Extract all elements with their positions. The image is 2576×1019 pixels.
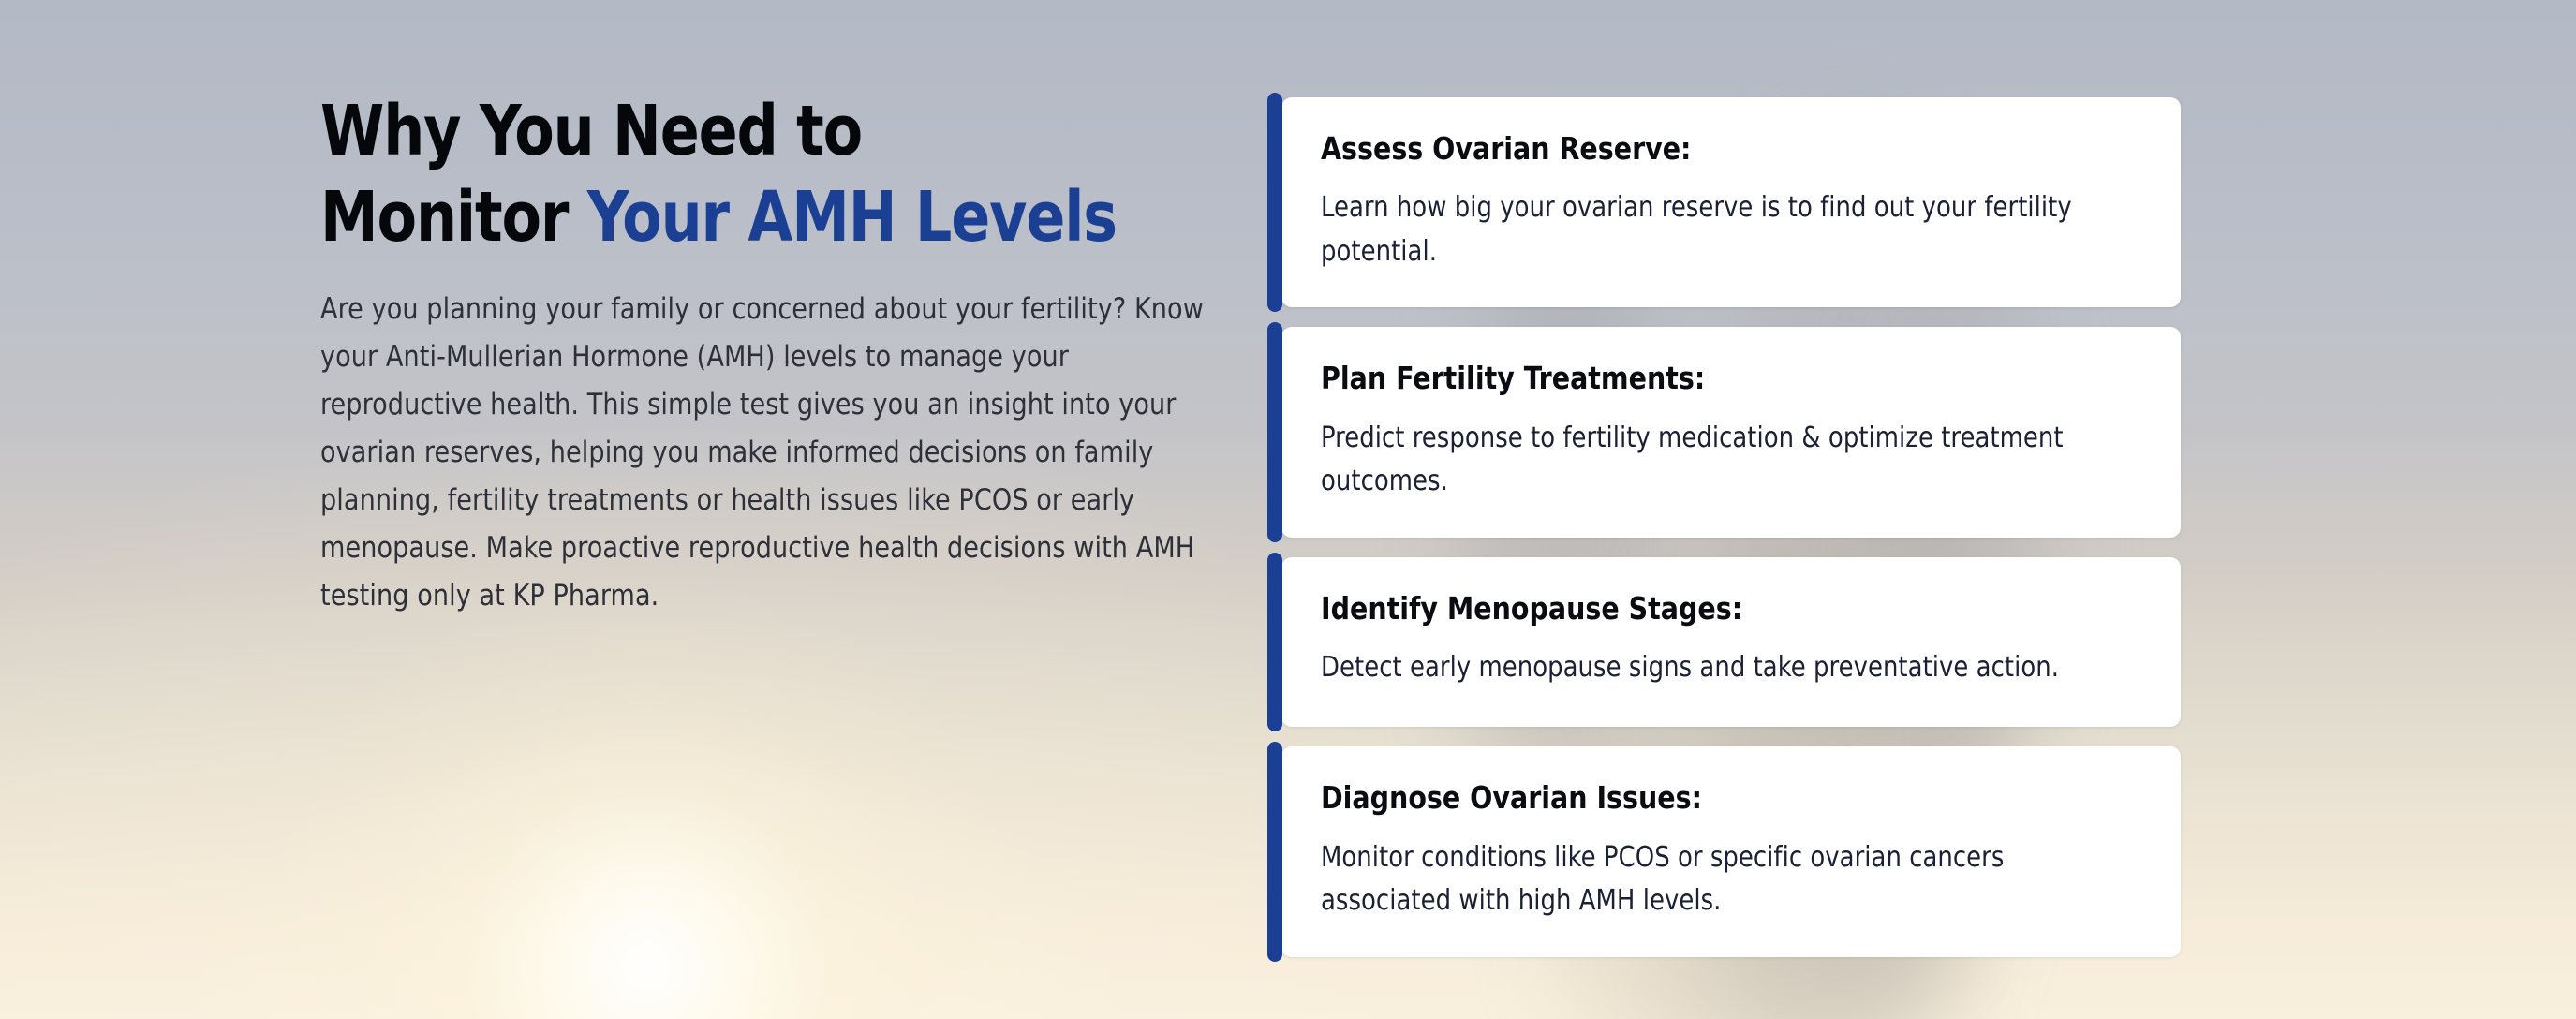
headline-line-1: Why You Need to [320, 91, 862, 171]
intro-paragraph: Are you planning your family or concerne… [320, 286, 1206, 620]
card-content: Identify Menopause Stages: Detect early … [1281, 557, 2181, 728]
card-description: Learn how big your ovarian reserve is to… [1321, 186, 2109, 273]
benefit-card[interactable]: Diagnose Ovarian Issues: Monitor conditi… [1267, 746, 2181, 956]
benefit-card[interactable]: Plan Fertility Treatments: Predict respo… [1267, 327, 2181, 537]
intro-column: Why You Need toMonitor Your AMH Levels A… [320, 89, 1248, 620]
benefit-card-list: Assess Ovarian Reserve: Learn how big yo… [1267, 97, 2181, 957]
page-title: Why You Need toMonitor Your AMH Levels [320, 89, 1183, 261]
amh-benefits-section: Why You Need toMonitor Your AMH Levels A… [0, 0, 2576, 1019]
card-accent-bar [1267, 553, 1282, 732]
headline-line-2-accent: Your AMH Levels [587, 177, 1117, 258]
benefit-card[interactable]: Assess Ovarian Reserve: Learn how big yo… [1267, 97, 2181, 307]
card-title: Assess Ovarian Reserve: [1321, 129, 2109, 168]
card-title: Diagnose Ovarian Issues: [1321, 778, 2109, 817]
card-accent-bar [1267, 742, 1282, 961]
headline-line-2-plain: Monitor [320, 177, 587, 258]
card-accent-bar [1267, 93, 1282, 312]
card-description: Detect early menopause signs and take pr… [1321, 646, 2109, 690]
card-accent-bar [1267, 322, 1282, 541]
benefit-card[interactable]: Identify Menopause Stages: Detect early … [1267, 557, 2181, 728]
card-content: Assess Ovarian Reserve: Learn how big yo… [1281, 97, 2181, 307]
card-content: Diagnose Ovarian Issues: Monitor conditi… [1281, 746, 2181, 956]
card-title: Plan Fertility Treatments: [1321, 359, 2109, 397]
card-description: Monitor conditions like PCOS or specific… [1321, 836, 2109, 923]
card-title: Identify Menopause Stages: [1321, 589, 2109, 628]
card-content: Plan Fertility Treatments: Predict respo… [1281, 327, 2181, 537]
card-description: Predict response to fertility medication… [1321, 417, 2109, 504]
